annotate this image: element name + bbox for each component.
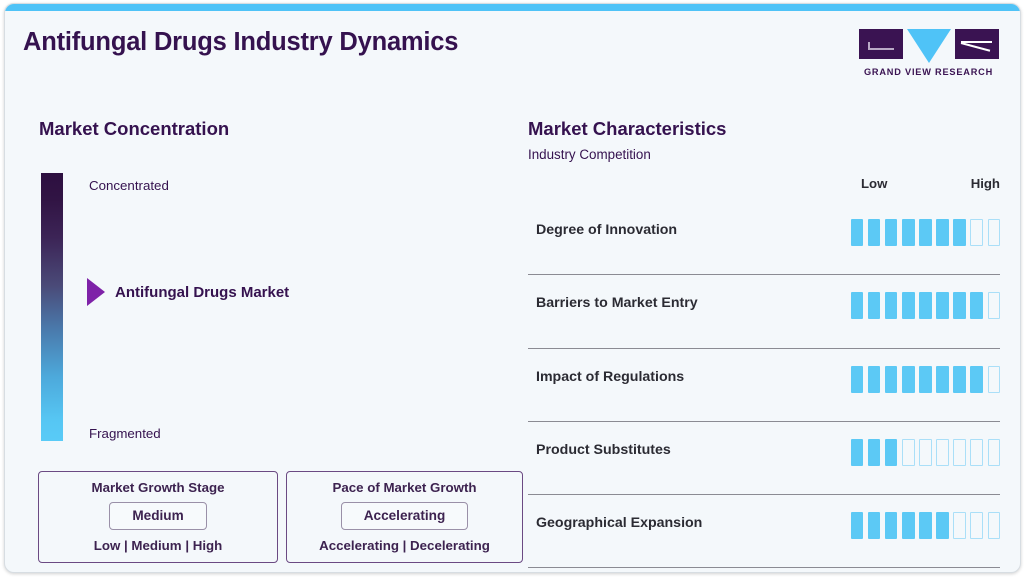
rating-tick-filled <box>936 292 949 319</box>
rating-tick-filled <box>851 219 864 246</box>
header: Antifungal Drugs Industry Dynamics GRAND… <box>5 11 1020 89</box>
rating-tick-filled <box>851 366 864 393</box>
characteristic-rating-bars <box>851 292 1000 319</box>
characteristic-label: Barriers to Market Entry <box>536 295 698 311</box>
rating-tick-filled <box>902 219 915 246</box>
rating-tick-filled <box>970 366 983 393</box>
market-position-label: Antifungal Drugs Market <box>115 284 289 301</box>
market-growth-stage-options: Low | Medium | High <box>51 538 265 553</box>
characteristic-label: Impact of Regulations <box>536 369 684 385</box>
top-accent-bar <box>5 4 1020 11</box>
rating-tick-filled <box>885 219 898 246</box>
scale-low-label: Low <box>861 176 887 191</box>
rating-tick-filled <box>902 366 915 393</box>
market-growth-stage-value: Medium <box>109 502 206 530</box>
scale-header: Low High <box>528 176 1000 194</box>
rating-tick-empty <box>953 512 966 539</box>
market-position-marker: Antifungal Drugs Market <box>87 278 289 306</box>
market-concentration-panel: Market Concentration Concentrated Fragme… <box>5 89 510 572</box>
rating-tick-empty <box>919 439 932 466</box>
pace-of-market-growth-value: Accelerating <box>341 502 469 530</box>
logo-wordmark: GRAND VIEW RESEARCH <box>856 67 1001 77</box>
logo-g-icon <box>859 29 903 59</box>
characteristic-label: Degree of Innovation <box>536 222 677 238</box>
rating-tick-empty <box>970 512 983 539</box>
rating-tick-filled <box>868 512 881 539</box>
rating-tick-filled <box>953 366 966 393</box>
pace-of-market-growth-options: Accelerating | Decelerating <box>299 538 510 553</box>
rating-tick-empty <box>988 512 1001 539</box>
characteristic-rating-bars <box>851 439 1000 466</box>
characteristic-row: Geographical Expansion <box>528 495 1000 568</box>
rating-tick-empty <box>936 439 949 466</box>
rating-tick-filled <box>885 292 898 319</box>
rating-tick-empty <box>970 439 983 466</box>
rating-tick-empty <box>988 439 1001 466</box>
pace-of-market-growth-box: Pace of Market Growth Accelerating Accel… <box>286 471 523 563</box>
rating-tick-empty <box>970 219 983 246</box>
rating-tick-filled <box>868 219 881 246</box>
characteristic-rating-bars <box>851 512 1000 539</box>
logo-marks <box>856 29 1001 63</box>
rating-tick-filled <box>885 512 898 539</box>
rating-tick-filled <box>902 512 915 539</box>
market-concentration-title: Market Concentration <box>39 118 229 140</box>
industry-competition-subtitle: Industry Competition <box>528 147 651 162</box>
concentration-scale: Concentrated Fragmented Antifungal Drugs… <box>41 173 481 443</box>
rating-tick-filled <box>885 439 898 466</box>
growth-summary-boxes: Market Growth Stage Medium Low | Medium … <box>38 471 523 563</box>
rating-tick-filled <box>919 292 932 319</box>
fragmented-label: Fragmented <box>89 426 161 441</box>
market-growth-stage-title: Market Growth Stage <box>51 480 265 495</box>
triangle-pointer-icon <box>87 278 105 306</box>
logo-triangle-icon <box>907 29 951 63</box>
infographic-card: Antifungal Drugs Industry Dynamics GRAND… <box>4 3 1021 573</box>
rating-tick-filled <box>868 439 881 466</box>
market-growth-stage-box: Market Growth Stage Medium Low | Medium … <box>38 471 278 563</box>
characteristic-rating-bars <box>851 219 1000 246</box>
characteristic-row: Impact of Regulations <box>528 349 1000 422</box>
market-characteristics-panel: Market Characteristics Industry Competit… <box>510 89 1020 572</box>
rating-tick-filled <box>885 366 898 393</box>
rating-tick-empty <box>953 439 966 466</box>
rating-tick-filled <box>851 512 864 539</box>
characteristics-rows: Degree of InnovationBarriers to Market E… <box>528 202 1000 568</box>
scale-high-label: High <box>971 176 1000 191</box>
market-characteristics-title: Market Characteristics <box>528 118 726 140</box>
characteristic-label: Product Substitutes <box>536 442 671 458</box>
logo-r-icon <box>955 29 999 59</box>
rating-tick-empty <box>988 292 1001 319</box>
rating-tick-filled <box>953 219 966 246</box>
grand-view-research-logo: GRAND VIEW RESEARCH <box>856 29 1001 77</box>
concentration-gradient-bar <box>41 173 63 441</box>
characteristic-row: Degree of Innovation <box>528 202 1000 275</box>
rating-tick-filled <box>936 512 949 539</box>
rating-tick-filled <box>919 219 932 246</box>
rating-tick-empty <box>902 439 915 466</box>
rating-tick-filled <box>851 292 864 319</box>
rating-tick-filled <box>919 512 932 539</box>
concentrated-label: Concentrated <box>89 178 169 193</box>
rating-tick-empty <box>988 366 1001 393</box>
characteristic-rating-bars <box>851 366 1000 393</box>
rating-tick-empty <box>988 219 1001 246</box>
rating-tick-filled <box>970 292 983 319</box>
pace-of-market-growth-title: Pace of Market Growth <box>299 480 510 495</box>
characteristic-label: Geographical Expansion <box>536 515 702 531</box>
characteristic-row: Barriers to Market Entry <box>528 275 1000 348</box>
rating-tick-filled <box>936 219 949 246</box>
rating-tick-filled <box>851 439 864 466</box>
page-title: Antifungal Drugs Industry Dynamics <box>23 28 458 57</box>
rating-tick-filled <box>919 366 932 393</box>
rating-tick-filled <box>953 292 966 319</box>
rating-tick-filled <box>868 292 881 319</box>
rating-tick-filled <box>868 366 881 393</box>
rating-tick-filled <box>936 366 949 393</box>
characteristic-row: Product Substitutes <box>528 422 1000 495</box>
rating-tick-filled <box>902 292 915 319</box>
